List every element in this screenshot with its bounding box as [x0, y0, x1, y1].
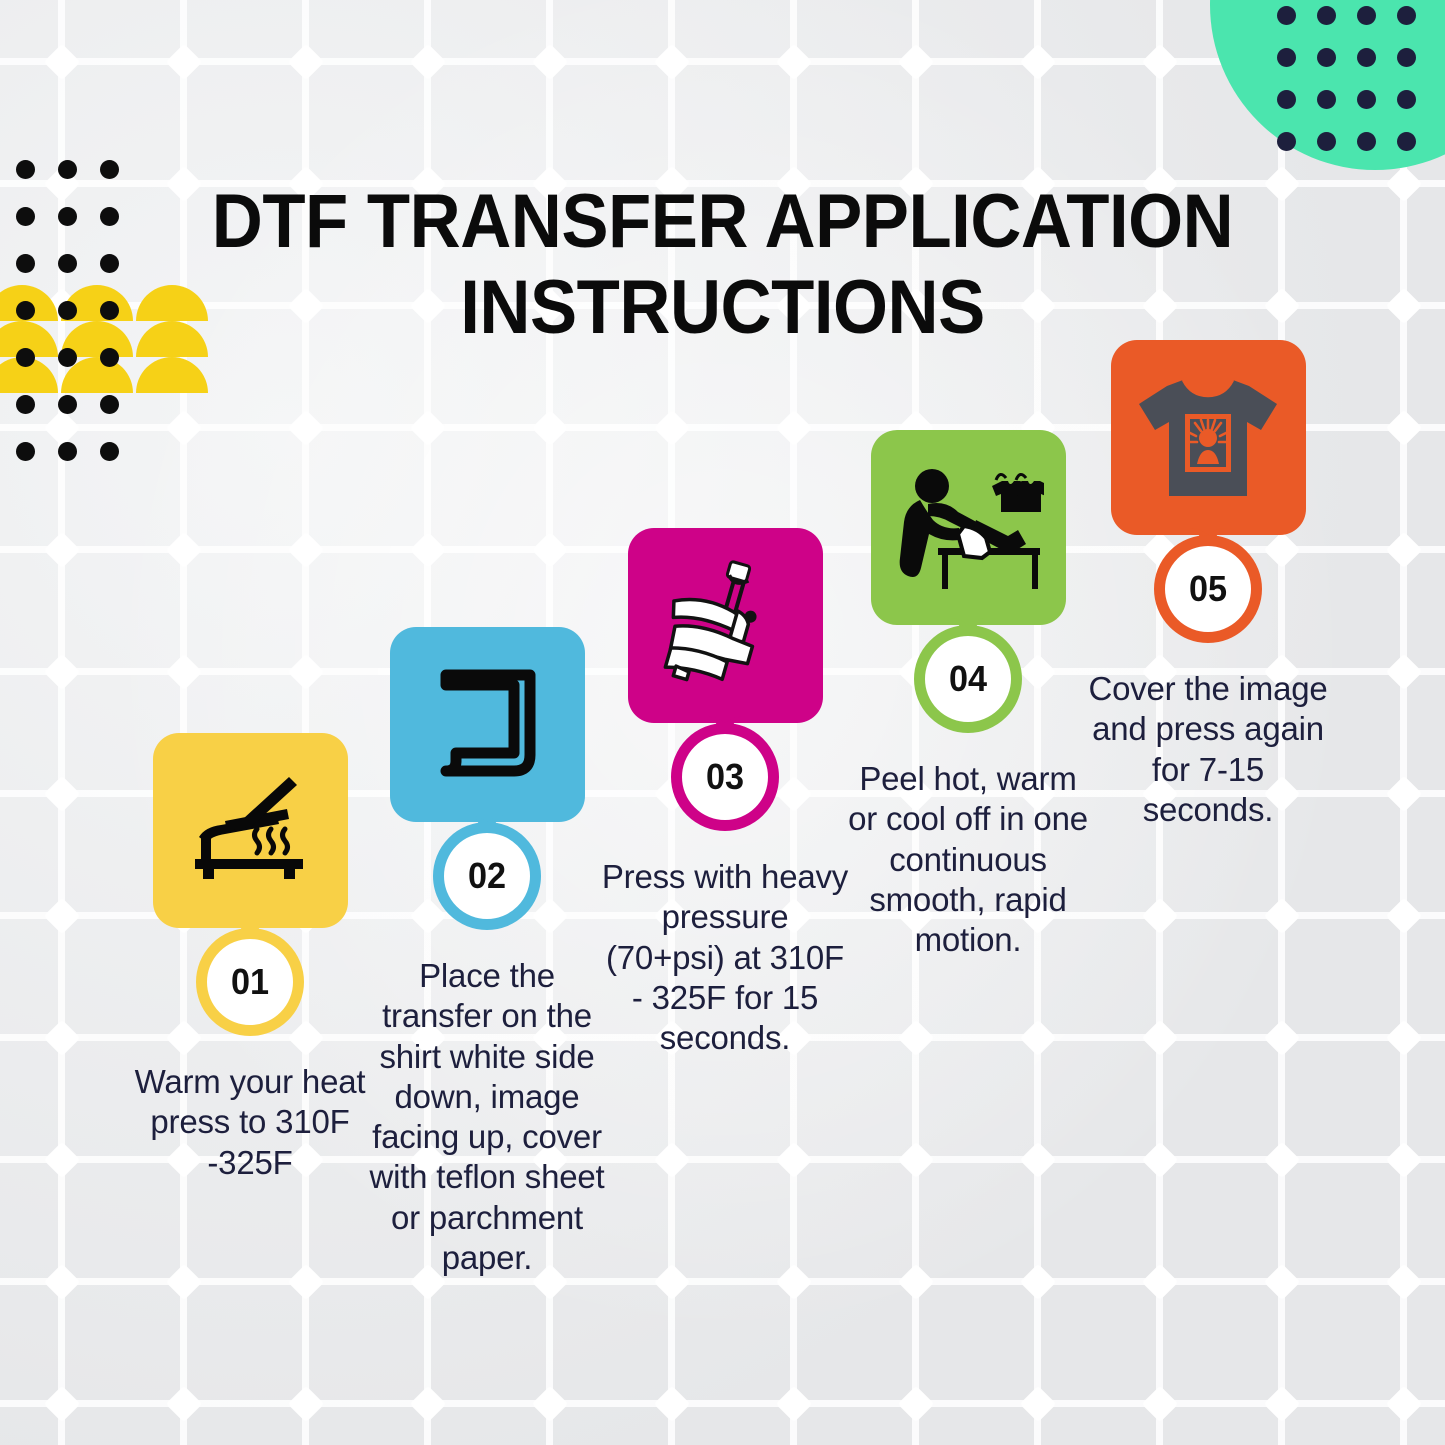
grid-node: [654, 410, 691, 447]
decor-dot: [1397, 6, 1416, 25]
grid-node: [166, 1386, 203, 1423]
decor-dot: [100, 160, 119, 179]
grid-node: [1386, 532, 1423, 569]
grid-node: [166, 654, 203, 691]
step-01[interactable]: 01 Warm your heat press to 310F -325F: [125, 733, 375, 1183]
grid-node: [654, 1386, 691, 1423]
grid-node: [1020, 1020, 1057, 1057]
decor-dot: [16, 301, 35, 320]
step-01-number-badge[interactable]: 01: [196, 928, 304, 1036]
step-04-card[interactable]: [871, 430, 1066, 625]
grid-node: [166, 410, 203, 447]
navy-dot-grid-decoration: [1277, 6, 1437, 174]
grid-node: [1020, 1386, 1057, 1423]
grid-node: [288, 1386, 325, 1423]
grid-node: [44, 1264, 81, 1301]
grid-node: [1386, 1142, 1423, 1179]
decor-dot: [1277, 48, 1296, 67]
grid-node: [1142, 898, 1179, 935]
grid-node: [1020, 1264, 1057, 1301]
decor-dot: [58, 395, 77, 414]
grid-node: [776, 410, 813, 447]
step-05-description: Cover the image and press again for 7-15…: [1083, 669, 1333, 830]
grid-node: [410, 410, 447, 447]
step-01-description: Warm your heat press to 310F -325F: [125, 1062, 375, 1183]
grid-node: [166, 532, 203, 569]
half-circle: [136, 357, 208, 393]
grid-node: [288, 532, 325, 569]
decor-dot: [1317, 48, 1336, 67]
grid-node: [166, 1264, 203, 1301]
grid-node: [1020, 1142, 1057, 1179]
step-03[interactable]: 03 Press with heavy pressure (70+psi) at…: [600, 528, 850, 1058]
grid-node: [776, 1264, 813, 1301]
grid-node: [1142, 1386, 1179, 1423]
step-05-card[interactable]: [1111, 340, 1306, 535]
decor-dot: [16, 348, 35, 367]
grid-node: [44, 1020, 81, 1057]
grid-node: [1264, 898, 1301, 935]
step-04[interactable]: 04 Peel hot, warm or cool off in one con…: [843, 430, 1093, 960]
grid-node: [532, 1386, 569, 1423]
decor-dot: [16, 160, 35, 179]
grid-node: [288, 44, 325, 81]
grid-node: [532, 532, 569, 569]
decor-dot: [100, 395, 119, 414]
grid-node: [44, 44, 81, 81]
grid-node: [1142, 1264, 1179, 1301]
decor-dot: [100, 348, 119, 367]
peeling-worker-icon: [892, 464, 1044, 592]
step-05-number: 05: [1189, 568, 1227, 610]
grid-node: [1386, 776, 1423, 813]
step-03-description: Press with heavy pressure (70+psi) at 31…: [600, 857, 850, 1058]
decor-dot: [16, 254, 35, 273]
decor-dot: [58, 160, 77, 179]
step-02-card[interactable]: [390, 627, 585, 822]
step-04-description: Peel hot, warm or cool off in one contin…: [843, 759, 1093, 960]
decor-dot: [1317, 132, 1336, 151]
grid-node: [776, 1386, 813, 1423]
step-02-description: Place the transfer on the shirt white si…: [362, 956, 612, 1278]
grid-node: [44, 898, 81, 935]
infographic-canvas: DTF TRANSFER APPLICATION INSTRUCTIONS: [0, 0, 1445, 1445]
step-02[interactable]: 02 Place the transfer on the shirt white…: [362, 627, 612, 1278]
grid-node: [898, 44, 935, 81]
printed-tshirt-icon: [1133, 374, 1283, 502]
grid-node: [1386, 1264, 1423, 1301]
step-02-number: 02: [468, 855, 506, 897]
grid-node: [44, 776, 81, 813]
grid-node: [1264, 1386, 1301, 1423]
grid-node: [1386, 1386, 1423, 1423]
grid-node: [776, 1142, 813, 1179]
decor-dot: [16, 442, 35, 461]
grid-node: [1386, 410, 1423, 447]
decor-dot: [58, 442, 77, 461]
step-03-card[interactable]: [628, 528, 823, 723]
decor-dot: [1397, 48, 1416, 67]
grid-node: [1386, 654, 1423, 691]
grid-node: [532, 44, 569, 81]
step-05[interactable]: 05 Cover the image and press again for 7…: [1083, 340, 1333, 830]
grid-node: [410, 532, 447, 569]
grid-node: [288, 1264, 325, 1301]
step-04-number: 04: [949, 658, 987, 700]
grid-node: [654, 1264, 691, 1301]
decor-dot: [1397, 132, 1416, 151]
grid-node: [44, 1386, 81, 1423]
heat-press-icon: [185, 775, 315, 887]
decor-dot: [1277, 90, 1296, 109]
decor-dot: [1277, 132, 1296, 151]
grid-node: [898, 1142, 935, 1179]
decor-dot: [1277, 6, 1296, 25]
heat-press-machine-icon: [655, 556, 795, 696]
grid-node: [44, 532, 81, 569]
grid-node: [44, 1142, 81, 1179]
grid-node: [1264, 1142, 1301, 1179]
page-title: DTF TRANSFER APPLICATION INSTRUCTIONS: [51, 179, 1395, 351]
grid-node: [898, 1264, 935, 1301]
decor-dot: [1357, 132, 1376, 151]
decor-dot: [100, 442, 119, 461]
grid-node: [654, 1142, 691, 1179]
grid-node: [166, 44, 203, 81]
decor-dot: [1357, 48, 1376, 67]
grid-node: [1264, 1020, 1301, 1057]
step-03-number: 03: [706, 756, 744, 798]
decor-dot: [1357, 6, 1376, 25]
decor-dot: [1317, 6, 1336, 25]
grid-node: [898, 1020, 935, 1057]
decor-dot: [1317, 90, 1336, 109]
grid-node: [1142, 44, 1179, 81]
grid-node: [44, 654, 81, 691]
decor-dot: [16, 395, 35, 414]
grid-node: [288, 654, 325, 691]
decor-dot: [1357, 90, 1376, 109]
decor-dot: [1397, 90, 1416, 109]
decor-dot: [58, 348, 77, 367]
step-01-card[interactable]: [153, 733, 348, 928]
grid-node: [654, 44, 691, 81]
grid-node: [410, 44, 447, 81]
step-05-number-badge[interactable]: 05: [1154, 535, 1262, 643]
grid-node: [410, 1386, 447, 1423]
grid-node: [532, 410, 569, 447]
grid-node: [1264, 1264, 1301, 1301]
step-01-number: 01: [231, 961, 269, 1003]
decor-dot: [16, 207, 35, 226]
step-02-number-badge[interactable]: 02: [433, 822, 541, 930]
grid-node: [1386, 898, 1423, 935]
grid-node: [1142, 1020, 1179, 1057]
grid-node: [776, 44, 813, 81]
grid-node: [1020, 44, 1057, 81]
grid-node: [1386, 1020, 1423, 1057]
transfer-sheet-icon: [432, 669, 542, 781]
grid-node: [1142, 1142, 1179, 1179]
step-03-number-badge[interactable]: 03: [671, 723, 779, 831]
grid-node: [898, 1386, 935, 1423]
grid-node: [288, 410, 325, 447]
step-04-number-badge[interactable]: 04: [914, 625, 1022, 733]
